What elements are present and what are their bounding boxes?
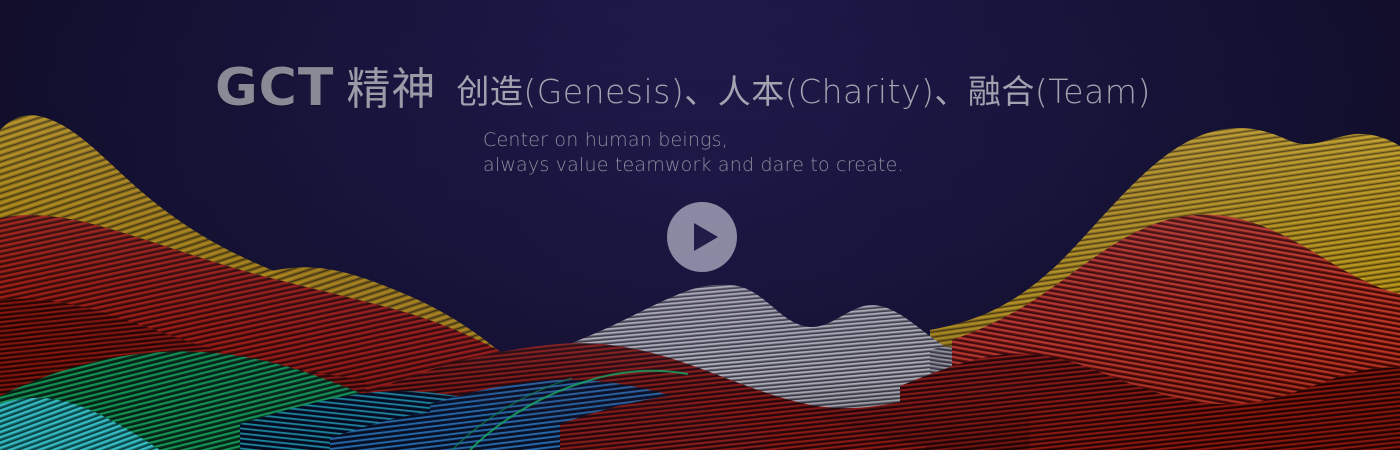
headline-row: GCT 精神 创造(Genesis)、人本(Charity)、融合(Team) [215,62,1215,114]
subtitle-line-2: always value teamwork and dare to create… [483,153,1215,178]
play-video-button[interactable] [667,202,737,272]
subtitle-line-1: Center on human beings, [483,128,1215,153]
hero-subtitle: Center on human beings, always value tea… [483,128,1215,178]
headline-values: 创造(Genesis)、人本(Charity)、融合(Team) [456,75,1151,108]
brand-logo-cn: 精神 [346,68,436,112]
play-triangle-icon [694,223,718,251]
hero-text-block: GCT 精神 创造(Genesis)、人本(Charity)、融合(Team) … [215,62,1215,178]
brand-logo-gct: GCT [215,62,334,114]
hero-banner: GCT 精神 创造(Genesis)、人本(Charity)、融合(Team) … [0,0,1400,450]
